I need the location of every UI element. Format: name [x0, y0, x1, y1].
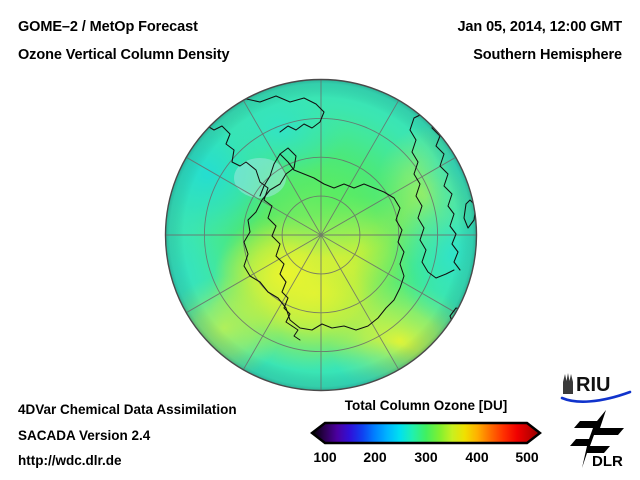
riu-logo-text: RIU: [576, 374, 610, 396]
page-subtitle: Ozone Vertical Column Density: [18, 47, 229, 63]
colorbar-tick-labels: 100 200 300 400 500: [310, 446, 542, 470]
ozone-forecast-figure: GOME–2 / MetOp Forecast Ozone Vertical C…: [0, 0, 640, 480]
hemisphere-label: Southern Hemisphere: [473, 47, 622, 63]
model-version-label: SACADA Version 2.4: [18, 428, 150, 443]
colorbar-gradient: [310, 420, 542, 446]
source-url-label: http://wdc.dlr.de: [18, 453, 122, 468]
colorbar-tick-100: 100: [313, 449, 336, 465]
dlr-logo: DLR: [566, 408, 632, 470]
riu-logo: RIU: [560, 370, 632, 404]
assimilation-method-label: 4DVar Chemical Data Assimilation: [18, 402, 237, 417]
forecast-timestamp: Jan 05, 2014, 12:00 GMT: [457, 19, 622, 35]
riu-tower-icon: [563, 373, 573, 394]
colorbar-title: Total Column Ozone [DU]: [310, 398, 542, 413]
page-title: GOME–2 / MetOp Forecast: [18, 19, 198, 35]
colorbar-tick-200: 200: [363, 449, 386, 465]
colorbar-tick-300: 300: [414, 449, 437, 465]
colorbar-tick-400: 400: [465, 449, 488, 465]
colorbar: Total Column Ozone [DU]: [310, 398, 542, 472]
dlr-logo-text: DLR: [592, 453, 623, 470]
ozone-map-globe: [164, 78, 478, 392]
colorbar-tick-500: 500: [515, 449, 538, 465]
